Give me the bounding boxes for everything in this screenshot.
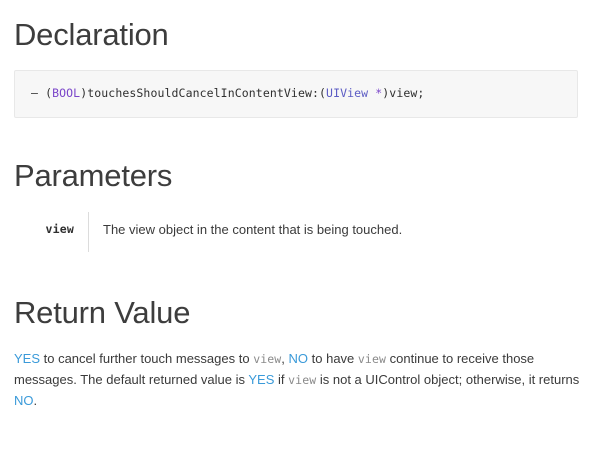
return-text-segment-6: is not a: [316, 372, 365, 387]
parameter-term: view: [46, 222, 75, 236]
declaration-heading: Declaration: [14, 18, 586, 52]
parameters-heading: Parameters: [14, 159, 586, 193]
documentation-page: Declaration — (BOOL)touchesShouldCancelI…: [0, 0, 600, 454]
parameter-row: view The view object in the content that…: [14, 212, 586, 252]
yes-link-2[interactable]: YES: [248, 372, 274, 387]
parameter-term-cell: view: [14, 212, 74, 238]
yes-link-1[interactable]: YES: [14, 351, 40, 366]
code-token-selector: touchesShouldCancelInContentView:: [87, 86, 319, 100]
no-link-2[interactable]: NO: [14, 393, 34, 408]
code-token-open-paren-2: (: [319, 86, 326, 100]
return-text-segment-5: if: [274, 372, 288, 387]
parameters-section: Parameters view The view object in the c…: [14, 118, 586, 252]
no-link-1[interactable]: NO: [289, 351, 309, 366]
code-token-param-name: view: [389, 86, 417, 100]
inline-code-view-3: view: [288, 373, 316, 387]
parameter-list: view The view object in the content that…: [14, 212, 586, 252]
return-text-segment-8: .: [34, 393, 38, 408]
parameter-description: The view object in the content that is b…: [89, 212, 402, 240]
code-token-space-1: [38, 86, 45, 100]
inline-code-view-2: view: [358, 352, 386, 366]
return-text-segment-7: object; otherwise, it returns: [420, 372, 579, 387]
declaration-section: Declaration — (BOOL)touchesShouldCancelI…: [14, 0, 586, 118]
code-token-return-type: BOOL: [52, 86, 80, 100]
inline-code-view-1: view: [253, 352, 281, 366]
code-token-semicolon: ;: [417, 86, 424, 100]
return-value-text: YES to cancel further touch messages to …: [14, 348, 584, 411]
declaration-code-block: — (BOOL)touchesShouldCancelInContentView…: [14, 70, 578, 118]
return-text-segment-1: to cancel further touch messages to: [40, 351, 253, 366]
return-text-segment-3: to have: [308, 351, 358, 366]
return-text-segment-2: ,: [281, 351, 288, 366]
code-token-param-type: UIView: [326, 86, 368, 100]
code-token-dash: —: [31, 86, 38, 100]
return-value-section: Return Value YES to cancel further touch…: [14, 252, 586, 410]
return-value-heading: Return Value: [14, 296, 586, 330]
uicontrol-link[interactable]: UIControl: [365, 372, 420, 387]
code-line: — (BOOL)touchesShouldCancelInContentView…: [31, 85, 561, 102]
